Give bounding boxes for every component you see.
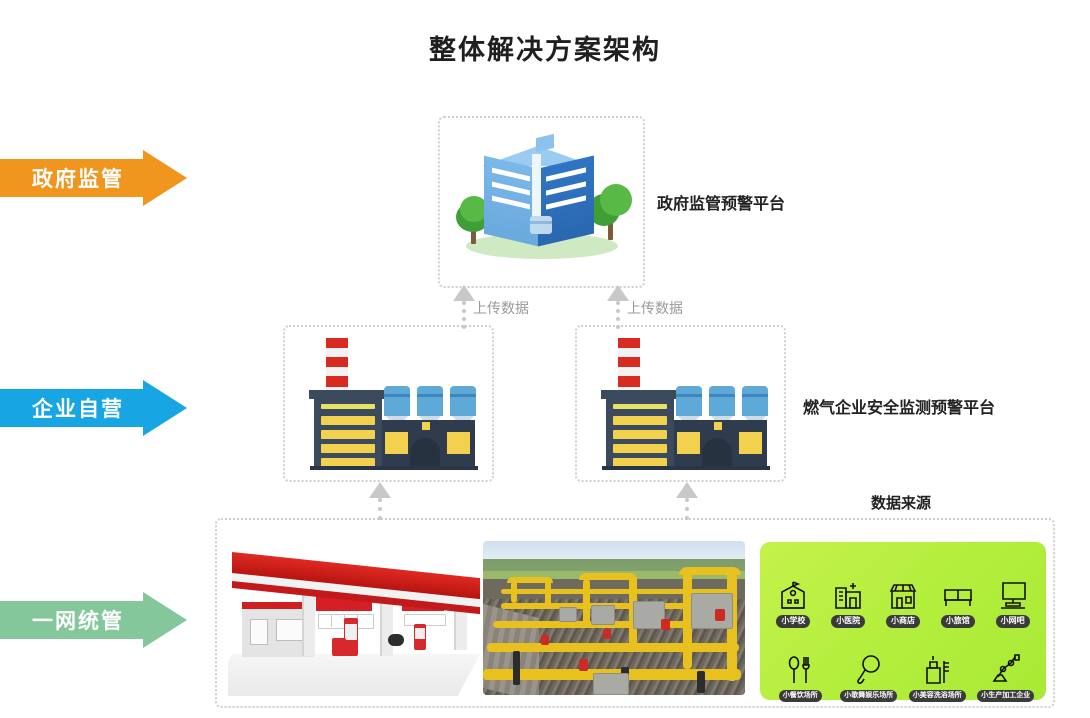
factory-illustration-b — [588, 338, 773, 470]
banner-unified-network[interactable]: 一网统管 — [0, 592, 187, 648]
banner-government-supervision[interactable]: 政府监管 — [0, 150, 187, 206]
source-arrow-icon — [369, 482, 391, 520]
venue-cell-school[interactable]: 小学校 — [767, 566, 819, 628]
flow-label-upload-data: 上传数据 — [473, 298, 529, 318]
factory-side-block — [674, 420, 767, 470]
banner-enterprise-operation[interactable]: 企业自营 — [0, 380, 187, 436]
banner-label: 企业自营 — [32, 393, 124, 423]
venue-cell-hospital[interactable]: 小医院 — [822, 566, 874, 628]
venue-label: 小学校 — [776, 615, 810, 628]
venue-cell-beauty-bath[interactable]: 小美容洗浴场所 — [911, 641, 963, 702]
diagram-canvas: 整体解决方案架构 政府监管 企业自营 一网统管 — [0, 0, 1090, 718]
factory-illustration-a — [296, 338, 481, 470]
caption-enterprise-platform: 燃气企业安全监测预警平台 — [803, 394, 995, 418]
venue-cell-hotel[interactable]: 小旅馆 — [932, 566, 984, 628]
building-base-cylinder — [530, 216, 552, 234]
robot-arm-icon — [989, 641, 1023, 687]
venue-cell-shop[interactable]: 小商店 — [877, 566, 929, 628]
arrow-head-icon — [143, 380, 187, 436]
shop-icon — [886, 566, 920, 612]
upload-arrow-icon — [607, 285, 629, 329]
venue-label: 小医院 — [831, 615, 865, 628]
gas-station-photo — [228, 542, 483, 702]
icon-row-1: 小学校 小医院 — [766, 550, 1040, 628]
venue-cell-entertainment[interactable]: 小歌舞娱乐场所 — [843, 641, 895, 702]
flow-label-upload-data: 上传数据 — [627, 298, 683, 318]
microphone-icon — [852, 641, 886, 687]
factory-base — [602, 466, 770, 470]
government-building-illustration — [448, 128, 636, 278]
venue-label: 小歌舞娱乐场所 — [840, 690, 897, 702]
banner-body: 一网统管 — [0, 601, 143, 639]
tree-icon — [588, 184, 632, 242]
caption-government-platform: 政府监管预警平台 — [657, 190, 785, 214]
gas-pipeline-photo — [483, 541, 745, 695]
factory-main-block — [314, 398, 382, 470]
hospital-icon — [831, 566, 865, 612]
page-title: 整体解决方案架构 — [0, 28, 1090, 67]
fork-spoon-icon — [783, 641, 817, 687]
banner-label: 一网统管 — [32, 605, 124, 635]
bottles-icon — [920, 641, 954, 687]
regulator-unit — [691, 593, 733, 629]
venue-label: 小网吧 — [996, 615, 1030, 628]
school-icon — [776, 566, 810, 612]
venue-label: 小餐饮场所 — [779, 690, 822, 702]
banner-body: 政府监管 — [0, 159, 143, 197]
computer-icon — [996, 566, 1030, 612]
venue-label: 小旅馆 — [941, 615, 975, 628]
factory-side-block — [382, 420, 475, 470]
venue-label: 小生产加工企业 — [977, 690, 1034, 702]
venue-label: 小美容洗浴场所 — [909, 690, 966, 702]
arrow-head-icon — [143, 150, 187, 206]
bed-hotel-icon — [941, 566, 975, 612]
icon-row-2: 小餐饮场所 小歌舞娱乐场所 — [766, 628, 1040, 702]
factory-main-block — [606, 398, 674, 470]
banner-label: 政府监管 — [32, 163, 124, 193]
venue-cell-internet-cafe[interactable]: 小网吧 — [987, 566, 1039, 628]
building-center-column — [532, 154, 541, 216]
source-arrow-icon — [676, 482, 698, 520]
arrow-head-icon — [143, 592, 187, 648]
upload-arrow-icon — [453, 285, 475, 329]
small-venues-icon-panel: 小学校 小医院 — [760, 542, 1046, 700]
banner-body: 企业自营 — [0, 389, 143, 427]
venue-cell-restaurant[interactable]: 小餐饮场所 — [774, 641, 826, 702]
venue-label: 小商店 — [886, 615, 920, 628]
venue-cell-manufacturing[interactable]: 小生产加工企业 — [980, 641, 1032, 702]
factory-base — [310, 466, 478, 470]
caption-data-sources: 数据来源 — [871, 492, 931, 513]
